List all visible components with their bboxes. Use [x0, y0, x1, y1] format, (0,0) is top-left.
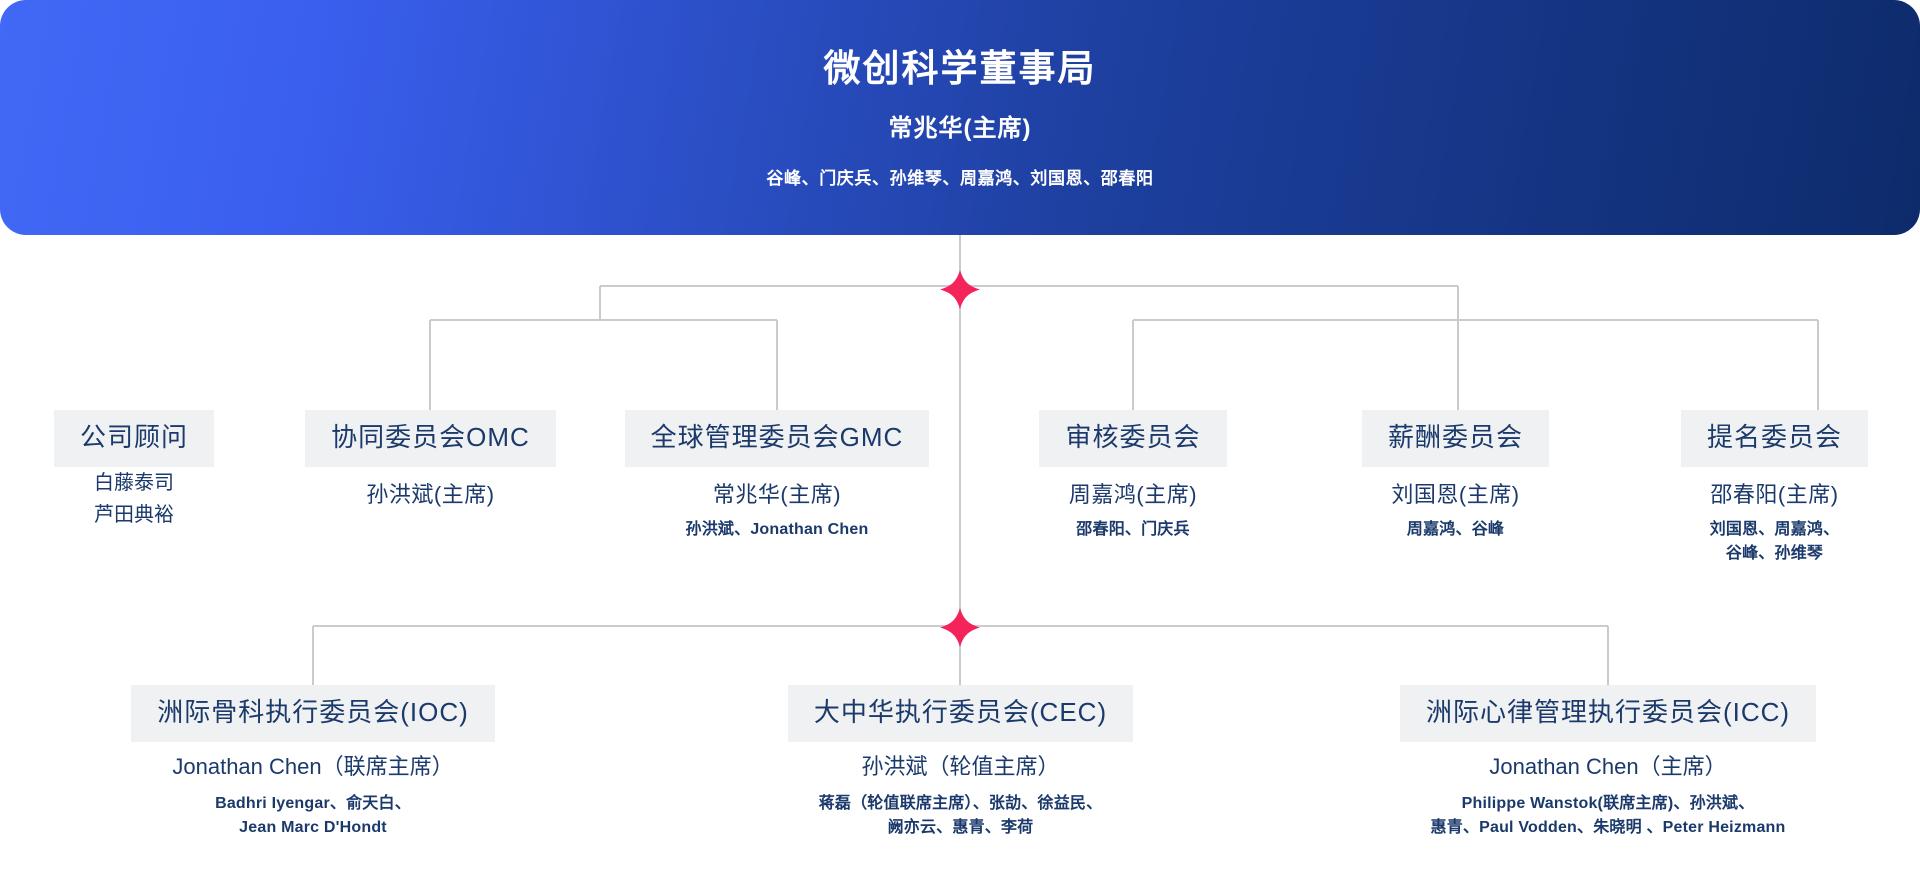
node-title: 公司顾问: [54, 410, 214, 467]
board-chair: 常兆华(主席): [889, 108, 1032, 143]
node-company-advisor[interactable]: 公司顾问 白藤泰司 芦田典裕: [46, 410, 222, 531]
node-members: 蒋磊（轮值联席主席）、张劼、徐益民、阙亦云、惠青、李荷: [819, 792, 1103, 840]
node-gmc[interactable]: 全球管理委员会GMC 常兆华(主席) 孙洪斌、Jonathan Chen: [610, 410, 944, 542]
node-title: 审核委员会: [1039, 410, 1226, 467]
board-header-banner: 微创科学董事局 常兆华(主席) 谷峰、门庆兵、孙维琴、周嘉鸿、刘国恩、邵春阳: [0, 0, 1920, 235]
node-lead: 常兆华(主席): [713, 481, 841, 509]
node-title: 全球管理委员会GMC: [625, 410, 930, 467]
board-members: 谷峰、门庆兵、孙维琴、周嘉鸿、刘国恩、邵春阳: [766, 164, 1153, 189]
node-cec[interactable]: 大中华执行委员会(CEC) 孙洪斌（轮值主席） 蒋磊（轮值联席主席）、张劼、徐益…: [768, 685, 1153, 840]
node-title: 洲际骨科执行委员会(IOC): [131, 685, 495, 742]
page-title: 微创科学董事局: [824, 46, 1097, 92]
node-icc[interactable]: 洲际心律管理执行委员会(ICC) Jonathan Chen（主席） Phili…: [1388, 685, 1828, 840]
node-title: 薪酬委员会: [1362, 410, 1549, 467]
node-members: 周嘉鸿、谷峰: [1407, 518, 1504, 542]
node-members: 刘国恩、周嘉鸿、谷峰、孙维琴: [1710, 518, 1840, 566]
node-lead: 邵春阳(主席): [1710, 481, 1838, 509]
node-compensation-committee[interactable]: 薪酬委员会 刘国恩(主席) 周嘉鸿、谷峰: [1348, 410, 1563, 542]
node-lead: 刘国恩(主席): [1391, 481, 1519, 509]
node-title: 大中华执行委员会(CEC): [788, 685, 1133, 742]
node-nomination-committee[interactable]: 提名委员会 邵春阳(主席) 刘国恩、周嘉鸿、谷峰、孙维琴: [1672, 410, 1877, 566]
node-title: 协同委员会OMC: [305, 410, 556, 467]
advisor-name-2: 芦田典裕: [94, 499, 174, 531]
node-omc[interactable]: 协同委员会OMC 孙洪斌(主席): [298, 410, 563, 508]
junction-marker-top-icon: [940, 270, 980, 309]
node-lead: 孙洪斌(主席): [366, 481, 494, 509]
node-audit-committee[interactable]: 审核委员会 周嘉鸿(主席) 邵春阳、门庆兵: [1028, 410, 1238, 542]
node-members: 孙洪斌、Jonathan Chen: [686, 518, 869, 542]
node-lead: 周嘉鸿(主席): [1069, 481, 1197, 509]
junction-marker-bottom-icon: [940, 608, 980, 647]
node-members: 邵春阳、门庆兵: [1076, 518, 1189, 542]
node-title: 洲际心律管理执行委员会(ICC): [1400, 685, 1816, 742]
node-title: 提名委员会: [1681, 410, 1868, 467]
advisor-name-1: 白藤泰司: [94, 467, 174, 499]
node-ioc[interactable]: 洲际骨科执行委员会(IOC) Jonathan Chen（联席主席） Badhr…: [118, 685, 508, 840]
node-lead: 孙洪斌（轮值主席）: [861, 751, 1059, 783]
node-lead: Jonathan Chen（主席）: [1489, 751, 1726, 783]
node-members: Badhri Iyengar、俞天白、Jean Marc D'Hondt: [215, 792, 411, 840]
org-chart-page: 微创科学董事局 常兆华(主席) 谷峰、门庆兵、孙维琴、周嘉鸿、刘国恩、邵春阳: [0, 0, 1920, 893]
node-members: Philippe Wanstok(联席主席)、孙洪斌、惠青、Paul Vodde…: [1431, 792, 1786, 840]
node-lead: Jonathan Chen（联席主席）: [172, 751, 453, 783]
